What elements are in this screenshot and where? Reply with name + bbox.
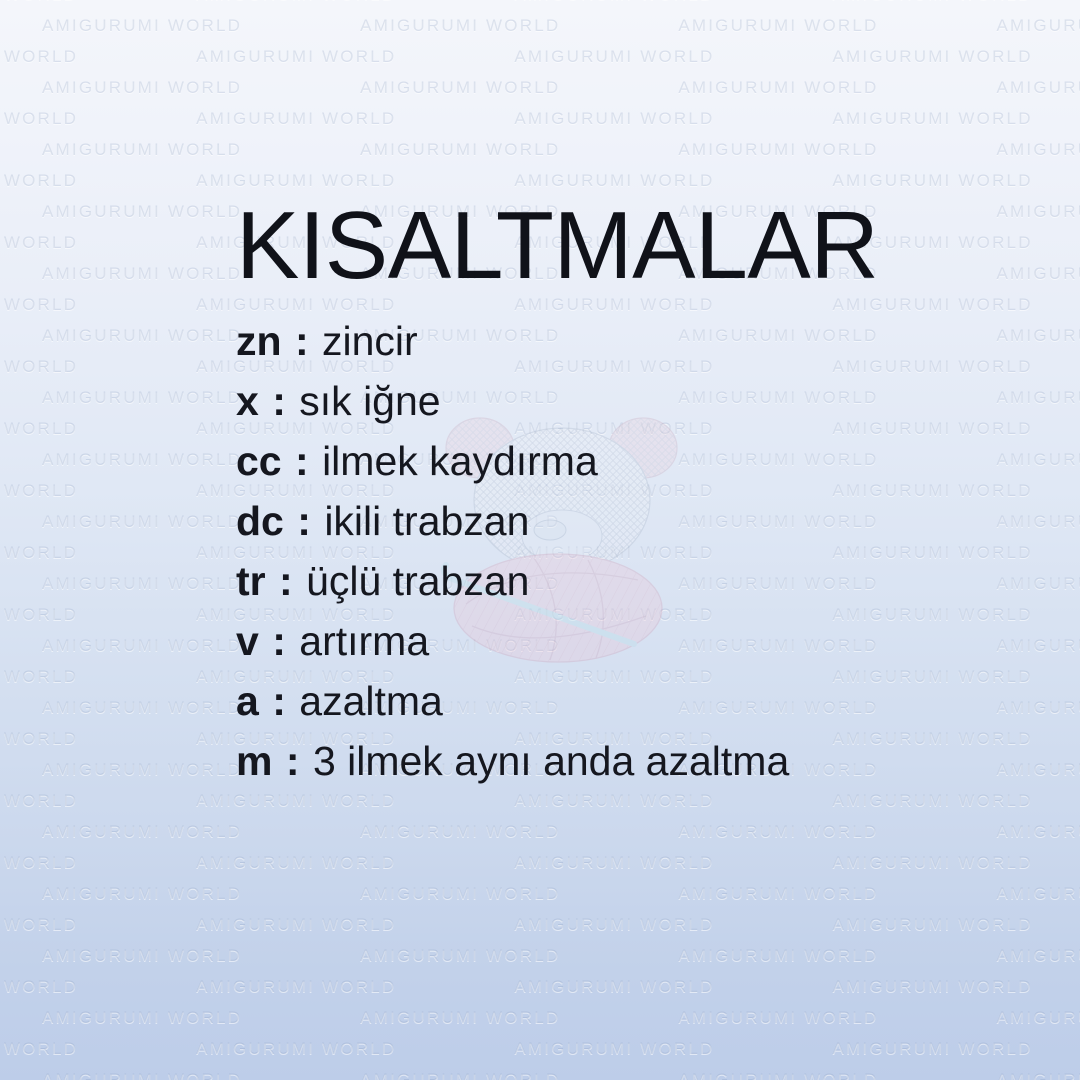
watermark-text: AMIGURUMI WORLD <box>0 791 78 810</box>
abbreviation-key: zn <box>236 318 282 364</box>
watermark-text: AMIGURUMI WORLD <box>42 450 242 469</box>
watermark-text: AMIGURUMI WORLD <box>42 946 242 965</box>
watermark-text: AMIGURUMI WORLD <box>514 171 714 190</box>
abbreviation-definition: ikili trabzan <box>324 498 529 544</box>
watermark-text: AMIGURUMI WORLD <box>0 1039 78 1058</box>
watermark-text: AMIGURUMI WORLD <box>360 78 560 97</box>
watermark-text: AMIGURUMI WORLD <box>0 233 78 252</box>
watermark-row: AMIGURUMI WORLDAMIGURUMI WORLDAMIGURUMI … <box>42 947 1080 964</box>
watermark-text: AMIGURUMI WORLD <box>42 1070 242 1080</box>
abbreviation-key: m <box>236 738 272 784</box>
watermark-row: AMIGURUMI WORLDAMIGURUMI WORLDAMIGURUMI … <box>0 48 1080 65</box>
watermark-row: AMIGURUMI WORLDAMIGURUMI WORLDAMIGURUMI … <box>0 916 1080 933</box>
watermark-text: AMIGURUMI WORLD <box>997 1070 1080 1080</box>
abbreviation-separator: : <box>293 438 311 484</box>
watermark-text: AMIGURUMI WORLD <box>833 915 1033 934</box>
watermark-text: AMIGURUMI WORLD <box>514 0 714 4</box>
abbreviation-row: a : azaltma <box>236 671 1056 731</box>
watermark-text: AMIGURUMI WORLD <box>42 760 242 779</box>
watermark-text: AMIGURUMI WORLD <box>42 512 242 531</box>
watermark-text: AMIGURUMI WORLD <box>0 419 78 438</box>
watermark-row: AMIGURUMI WORLDAMIGURUMI WORLDAMIGURUMI … <box>0 792 1080 809</box>
watermark-text: AMIGURUMI WORLD <box>678 884 878 903</box>
crochet-abbreviations-card: AMIGURUMI WORLDAMIGURUMI WORLDAMIGURUMI … <box>0 0 1080 1080</box>
watermark-text: AMIGURUMI WORLD <box>360 1008 560 1027</box>
watermark-text: AMIGURUMI WORLD <box>997 946 1080 965</box>
watermark-text: AMIGURUMI WORLD <box>196 853 396 872</box>
watermark-text: AMIGURUMI WORLD <box>0 915 78 934</box>
watermark-text: AMIGURUMI WORLD <box>833 791 1033 810</box>
watermark-text: AMIGURUMI WORLD <box>0 0 78 4</box>
watermark-text: AMIGURUMI WORLD <box>42 698 242 717</box>
watermark-text: AMIGURUMI WORLD <box>678 140 878 159</box>
watermark-text: AMIGURUMI WORLD <box>997 1008 1080 1027</box>
watermark-text: AMIGURUMI WORLD <box>678 946 878 965</box>
abbreviation-definition: üçlü trabzan <box>306 558 529 604</box>
watermark-text: AMIGURUMI WORLD <box>360 884 560 903</box>
abbreviation-list: zn : zincirx : sık iğnecc : ilmek kaydır… <box>236 311 1056 791</box>
watermark-text: AMIGURUMI WORLD <box>196 0 396 4</box>
watermark-text: AMIGURUMI WORLD <box>997 16 1080 35</box>
watermark-row: AMIGURUMI WORLDAMIGURUMI WORLDAMIGURUMI … <box>42 79 1080 96</box>
abbreviation-separator: : <box>293 318 311 364</box>
abbreviation-separator: : <box>270 378 288 424</box>
watermark-text: AMIGURUMI WORLD <box>0 729 78 748</box>
abbreviation-separator: : <box>277 558 295 604</box>
watermark-text: AMIGURUMI WORLD <box>196 47 396 66</box>
watermark-text: AMIGURUMI WORLD <box>997 822 1080 841</box>
watermark-text: AMIGURUMI WORLD <box>514 791 714 810</box>
watermark-text: AMIGURUMI WORLD <box>514 977 714 996</box>
watermark-text: AMIGURUMI WORLD <box>196 791 396 810</box>
watermark-text: AMIGURUMI WORLD <box>997 884 1080 903</box>
abbreviation-definition: azaltma <box>299 678 443 724</box>
watermark-text: AMIGURUMI WORLD <box>42 884 242 903</box>
watermark-row: AMIGURUMI WORLDAMIGURUMI WORLDAMIGURUMI … <box>0 0 1080 3</box>
abbreviation-definition: zincir <box>322 318 418 364</box>
watermark-text: AMIGURUMI WORLD <box>0 853 78 872</box>
watermark-text: AMIGURUMI WORLD <box>833 47 1033 66</box>
watermark-text: AMIGURUMI WORLD <box>42 264 242 283</box>
watermark-row: AMIGURUMI WORLDAMIGURUMI WORLDAMIGURUMI … <box>0 978 1080 995</box>
watermark-text: AMIGURUMI WORLD <box>514 853 714 872</box>
watermark-row: AMIGURUMI WORLDAMIGURUMI WORLDAMIGURUMI … <box>0 1040 1080 1057</box>
watermark-text: AMIGURUMI WORLD <box>0 667 78 686</box>
watermark-text: AMIGURUMI WORLD <box>196 1039 396 1058</box>
watermark-text: AMIGURUMI WORLD <box>0 357 78 376</box>
watermark-text: AMIGURUMI WORLD <box>360 822 560 841</box>
abbreviation-key: x <box>236 378 259 424</box>
abbreviation-separator: : <box>270 618 288 664</box>
watermark-text: AMIGURUMI WORLD <box>196 171 396 190</box>
watermark-text: AMIGURUMI WORLD <box>833 109 1033 128</box>
watermark-row: AMIGURUMI WORLDAMIGURUMI WORLDAMIGURUMI … <box>42 17 1080 34</box>
watermark-text: AMIGURUMI WORLD <box>196 977 396 996</box>
abbreviation-row: dc : ikili trabzan <box>236 491 1056 551</box>
watermark-text: AMIGURUMI WORLD <box>360 1070 560 1080</box>
watermark-text: AMIGURUMI WORLD <box>42 1008 242 1027</box>
watermark-text: AMIGURUMI WORLD <box>833 977 1033 996</box>
watermark-text: AMIGURUMI WORLD <box>514 915 714 934</box>
abbreviation-separator: : <box>270 678 288 724</box>
abbreviation-key: cc <box>236 438 282 484</box>
watermark-text: AMIGURUMI WORLD <box>360 140 560 159</box>
page-title: KISALTMALAR <box>236 196 1048 297</box>
watermark-row: AMIGURUMI WORLDAMIGURUMI WORLDAMIGURUMI … <box>0 172 1080 189</box>
watermark-text: AMIGURUMI WORLD <box>678 16 878 35</box>
watermark-text: AMIGURUMI WORLD <box>833 1039 1033 1058</box>
watermark-text: AMIGURUMI WORLD <box>833 0 1033 4</box>
watermark-text: AMIGURUMI WORLD <box>42 822 242 841</box>
watermark-text: AMIGURUMI WORLD <box>0 481 78 500</box>
watermark-text: AMIGURUMI WORLD <box>514 47 714 66</box>
abbreviation-separator: : <box>295 498 313 544</box>
abbreviation-row: cc : ilmek kaydırma <box>236 431 1056 491</box>
watermark-text: AMIGURUMI WORLD <box>196 109 396 128</box>
abbreviation-row: x : sık iğne <box>236 371 1056 431</box>
watermark-text: AMIGURUMI WORLD <box>997 78 1080 97</box>
watermark-text: AMIGURUMI WORLD <box>42 140 242 159</box>
abbreviation-definition: sık iğne <box>299 378 440 424</box>
watermark-text: AMIGURUMI WORLD <box>42 16 242 35</box>
abbreviation-row: tr : üçlü trabzan <box>236 551 1056 611</box>
watermark-text: AMIGURUMI WORLD <box>196 915 396 934</box>
abbreviation-definition: 3 ilmek aynı anda azaltma <box>313 738 789 784</box>
watermark-row: AMIGURUMI WORLDAMIGURUMI WORLDAMIGURUMI … <box>0 854 1080 871</box>
watermark-text: AMIGURUMI WORLD <box>833 171 1033 190</box>
watermark-text: AMIGURUMI WORLD <box>514 1039 714 1058</box>
watermark-text: AMIGURUMI WORLD <box>678 822 878 841</box>
watermark-row: AMIGURUMI WORLDAMIGURUMI WORLDAMIGURUMI … <box>42 1009 1080 1026</box>
watermark-text: AMIGURUMI WORLD <box>42 388 242 407</box>
watermark-text: AMIGURUMI WORLD <box>0 977 78 996</box>
watermark-text: AMIGURUMI WORLD <box>0 605 78 624</box>
watermark-text: AMIGURUMI WORLD <box>360 946 560 965</box>
abbreviation-key: tr <box>236 558 266 604</box>
abbreviation-key: dc <box>236 498 284 544</box>
watermark-text: AMIGURUMI WORLD <box>42 636 242 655</box>
abbreviation-row: m : 3 ilmek aynı anda azaltma <box>236 731 1056 791</box>
watermark-text: AMIGURUMI WORLD <box>42 574 242 593</box>
abbreviation-definition: ilmek kaydırma <box>322 438 598 484</box>
watermark-text: AMIGURUMI WORLD <box>42 78 242 97</box>
watermark-text: AMIGURUMI WORLD <box>0 543 78 562</box>
abbreviation-definition: artırma <box>299 618 429 664</box>
content-block: KISALTMALAR zn : zincirx : sık iğnecc : … <box>236 196 1056 791</box>
watermark-text: AMIGURUMI WORLD <box>0 295 78 314</box>
watermark-text: AMIGURUMI WORLD <box>42 202 242 221</box>
watermark-text: AMIGURUMI WORLD <box>678 78 878 97</box>
watermark-row: AMIGURUMI WORLDAMIGURUMI WORLDAMIGURUMI … <box>0 110 1080 127</box>
watermark-row: AMIGURUMI WORLDAMIGURUMI WORLDAMIGURUMI … <box>42 823 1080 840</box>
watermark-row: AMIGURUMI WORLDAMIGURUMI WORLDAMIGURUMI … <box>42 141 1080 158</box>
watermark-text: AMIGURUMI WORLD <box>997 140 1080 159</box>
abbreviation-row: v : artırma <box>236 611 1056 671</box>
abbreviation-key: v <box>236 618 259 664</box>
watermark-row: AMIGURUMI WORLDAMIGURUMI WORLDAMIGURUMI … <box>42 885 1080 902</box>
watermark-text: AMIGURUMI WORLD <box>514 109 714 128</box>
watermark-text: AMIGURUMI WORLD <box>0 109 78 128</box>
watermark-text: AMIGURUMI WORLD <box>0 47 78 66</box>
abbreviation-key: a <box>236 678 259 724</box>
watermark-text: AMIGURUMI WORLD <box>0 171 78 190</box>
watermark-text: AMIGURUMI WORLD <box>42 326 242 345</box>
watermark-text: AMIGURUMI WORLD <box>678 1008 878 1027</box>
watermark-text: AMIGURUMI WORLD <box>833 853 1033 872</box>
watermark-text: AMIGURUMI WORLD <box>360 16 560 35</box>
abbreviation-row: zn : zincir <box>236 311 1056 371</box>
abbreviation-separator: : <box>284 738 302 784</box>
watermark-text: AMIGURUMI WORLD <box>678 1070 878 1080</box>
watermark-row: AMIGURUMI WORLDAMIGURUMI WORLDAMIGURUMI … <box>42 1071 1080 1080</box>
